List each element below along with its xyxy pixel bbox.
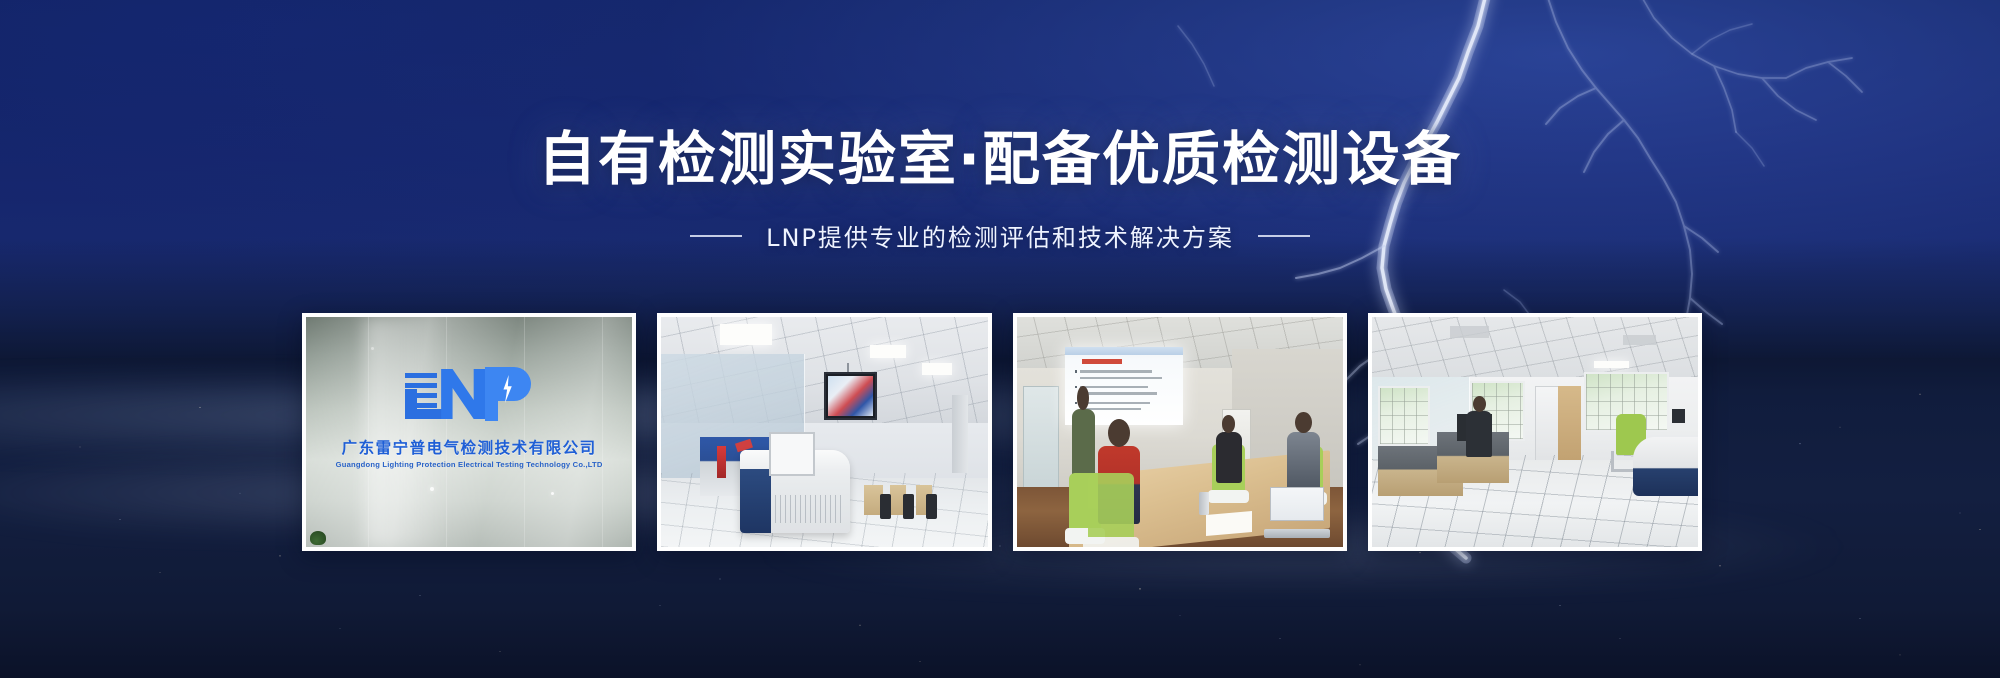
company-sign: 广东雷宁普电气检测技术有限公司 Guangdong Lighting Prote… [306,363,632,469]
gallery-card-office-workspace[interactable] [1368,313,1702,551]
page-title: 自有检测实验室·配备优质检测设备 [0,112,2000,196]
logo-letter-n [441,369,485,419]
ceiling-light [1594,361,1630,368]
photo-gallery: 广东雷宁普电气检测技术有限公司 Guangdong Lighting Prote… [302,313,1702,551]
bookshelf [1558,386,1581,460]
wall-display [824,372,876,420]
gallery-card-company-signage[interactable]: 广东雷宁普电气检测技术有限公司 Guangdong Lighting Prote… [302,313,636,551]
slide-bullet [1075,386,1077,388]
rule-right-icon [1258,235,1310,237]
attendee-person [1287,432,1320,492]
slide-title [1082,359,1122,364]
wall-light-dot [551,492,554,495]
laptop-screen [1270,487,1325,520]
hero-banner: 自有检测实验室·配备优质检测设备 LNP提供专业的检测评估和技术解决方案 [0,0,2000,678]
meeting-room-photo [1017,317,1343,547]
paper-documents [1206,511,1252,536]
person-head [1295,412,1312,434]
console-side-panel [740,469,771,534]
laptop-keyboard [1264,529,1329,538]
slide-toolbar [1065,347,1182,355]
gallery-card-testing-laboratory[interactable] [657,313,991,551]
slide-text-line [1080,392,1158,394]
wall-column [952,395,968,473]
test-equipment-part [717,446,727,478]
ceiling-vent [1623,335,1656,344]
company-name-cn: 广东雷宁普电气检测技术有限公司 [306,436,632,458]
thermos-bottle [1199,492,1209,515]
reception-counter [1633,437,1698,497]
display-screen [828,376,872,416]
subtitle-row: LNP提供专业的检测评估和技术解决方案 [0,218,2000,253]
chair [926,494,937,519]
console-vents [775,495,842,523]
laboratory-photo [661,317,987,547]
attendee-person [1216,432,1242,483]
chair [903,494,914,519]
ceiling-light [870,345,906,359]
slide-text-line [1080,386,1148,388]
ceiling-light [720,324,772,345]
window [1378,386,1430,446]
laptop [1264,487,1329,538]
slide-text-line [1080,377,1162,379]
company-name-en: Guangdong Lighting Protection Electrical… [306,460,632,469]
slide-text-line [1080,370,1153,372]
window-mullions [1380,388,1428,444]
console-monitor [769,432,815,476]
gallery-card-training-meeting-room[interactable] [1013,313,1347,551]
signage-photo: 广东雷宁普电气检测技术有限公司 Guangdong Lighting Prote… [306,317,632,547]
slide-text-line [1080,402,1150,404]
presenter-person [1072,409,1095,478]
chair [880,494,891,519]
office-photo [1372,317,1698,547]
slide-bullet [1075,370,1077,372]
ceiling-light [922,363,951,375]
lnp-logo-icon [401,363,537,425]
ceiling-grid [1372,317,1698,377]
page-subtitle: LNP提供专业的检测评估和技术解决方案 [766,218,1234,253]
worker-person [1466,411,1492,457]
door [1023,386,1059,496]
desk-item [1672,409,1685,423]
chair [1088,473,1134,542]
plant-decor [310,531,326,545]
rule-left-icon [690,235,742,237]
ceiling-vent [1450,326,1489,338]
